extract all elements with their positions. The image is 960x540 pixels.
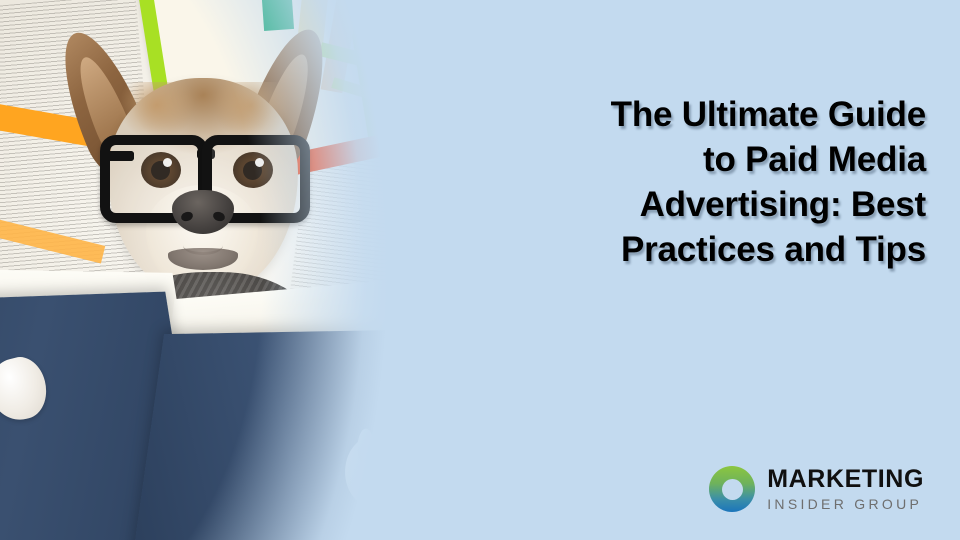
brand-logo[interactable]: MARKETING INSIDER GROUP <box>709 466 924 512</box>
hero-photo <box>0 0 600 540</box>
brand-name-secondary: INSIDER GROUP <box>767 497 924 511</box>
headline-line-1: The Ultimate Guide <box>526 92 926 137</box>
gradient-ring-icon <box>709 466 755 512</box>
page-title: The Ultimate Guide to Paid Media Adverti… <box>526 92 926 272</box>
headline-line-4: Practices and Tips <box>526 227 926 272</box>
headline-line-3: Advertising: Best <box>526 182 926 227</box>
blog-banner: The Ultimate Guide to Paid Media Adverti… <box>0 0 960 540</box>
brand-logo-wordmark: MARKETING INSIDER GROUP <box>767 467 924 511</box>
headline-line-2: to Paid Media <box>526 137 926 182</box>
brand-name-primary: MARKETING <box>767 467 924 492</box>
ring-hole <box>722 479 743 500</box>
